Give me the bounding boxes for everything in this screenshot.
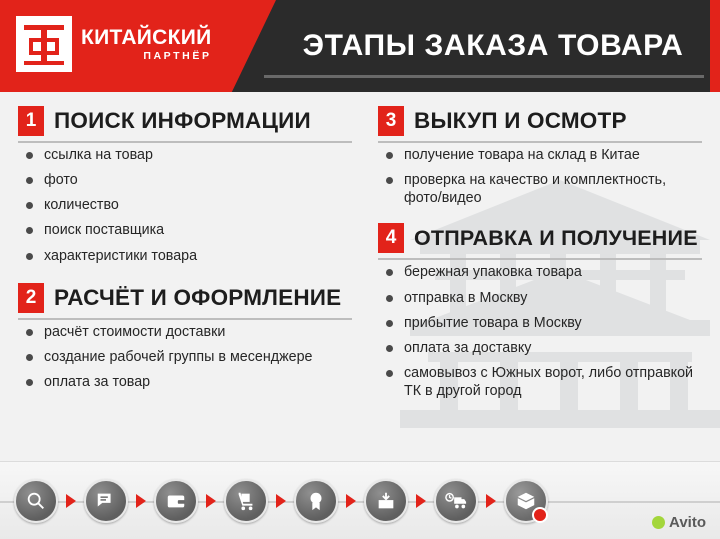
arrow-icon [136, 494, 146, 508]
logo-title: КИТАЙСКИЙ [81, 27, 212, 48]
list-item: прибытие товара в Москву [384, 314, 702, 332]
poster: КИТАЙСКИЙ ПАРТНЁР ЭТАПЫ ЗАКАЗА ТОВАРА 1 … [0, 0, 720, 539]
header-underline [264, 75, 704, 78]
block-2-list: расчёт стоимости доставки создание рабоч… [24, 323, 352, 391]
block-1-title: ПОИСК ИНФОРМАЦИИ [54, 108, 311, 134]
avito-label: Avito [669, 514, 706, 531]
brand-logo: КИТАЙСКИЙ ПАРТНЁР [16, 16, 212, 72]
hand-truck-icon [224, 479, 268, 523]
block-4-title: ОТПРАВКА И ПОЛУЧЕНИЕ [414, 226, 698, 251]
block-2-head: 2 РАСЧЁТ И ОФОРМЛЕНИЕ [18, 283, 352, 313]
block-3-number: 3 [378, 106, 404, 136]
logo-mark-icon [16, 16, 72, 72]
verified-badge-icon [532, 507, 548, 523]
list-item: создание рабочей группы в месенджере [24, 348, 352, 366]
block-4-list: бережная упаковка товара отправка в Моск… [384, 263, 702, 400]
block-4-head: 4 ОТПРАВКА И ПОЛУЧЕНИЕ [378, 223, 702, 253]
block-1-number: 1 [18, 106, 44, 136]
block-3-title: ВЫКУП И ОСМОТР [414, 108, 627, 134]
list-item: оплата за товар [24, 373, 352, 391]
header-accent-bar [710, 0, 720, 92]
list-item: проверка на качество и комплектность, фо… [384, 171, 702, 207]
column-right: 3 ВЫКУП И ОСМОТР получение товара на скл… [360, 106, 710, 448]
avito-dot-icon [652, 516, 665, 529]
block-4-rule [378, 258, 702, 260]
block-1-list: ссылка на товар фото количество поиск по… [24, 146, 352, 265]
process-footer: Avito [0, 461, 720, 539]
block-3-list: получение товара на склад в Китае провер… [384, 146, 702, 207]
block-3-head: 3 ВЫКУП И ОСМОТР [378, 106, 702, 136]
page-title: ЭТАПЫ ЗАКАЗА ТОВАРА [258, 0, 720, 92]
arrow-icon [486, 494, 496, 508]
chat-icon [84, 479, 128, 523]
block-1: 1 ПОИСК ИНФОРМАЦИИ ссылка на товар фото … [18, 106, 352, 265]
list-item: фото [24, 171, 352, 189]
poster-header: КИТАЙСКИЙ ПАРТНЁР ЭТАПЫ ЗАКАЗА ТОВАРА [0, 0, 720, 92]
arrow-icon [206, 494, 216, 508]
block-4-number: 4 [378, 223, 404, 253]
list-item: характеристики товара [24, 247, 352, 265]
arrow-icon [276, 494, 286, 508]
arrow-icon [346, 494, 356, 508]
block-1-head: 1 ПОИСК ИНФОРМАЦИИ [18, 106, 352, 136]
footer-steps [14, 479, 548, 523]
list-item: отправка в Москву [384, 289, 702, 307]
box-arrow-icon [364, 479, 408, 523]
verified-parcel-icon [504, 479, 548, 523]
content-columns: 1 ПОИСК ИНФОРМАЦИИ ссылка на товар фото … [0, 92, 720, 448]
quality-seal-icon [294, 479, 338, 523]
block-2-rule [18, 318, 352, 320]
magnifier-icon [14, 479, 58, 523]
logo-text: КИТАЙСКИЙ ПАРТНЁР [81, 27, 212, 62]
list-item: самовывоз с Южных ворот, либо отправкой … [384, 364, 702, 400]
list-item: оплата за доставку [384, 339, 702, 357]
column-left: 1 ПОИСК ИНФОРМАЦИИ ссылка на товар фото … [10, 106, 360, 448]
block-2: 2 РАСЧЁТ И ОФОРМЛЕНИЕ расчёт стоимости д… [18, 283, 352, 391]
list-item: получение товара на склад в Китае [384, 146, 702, 164]
block-2-title: РАСЧЁТ И ОФОРМЛЕНИЕ [54, 285, 341, 311]
block-2-number: 2 [18, 283, 44, 313]
list-item: количество [24, 196, 352, 214]
list-item: бережная упаковка товара [384, 263, 702, 281]
block-1-rule [18, 141, 352, 143]
list-item: поиск поставщика [24, 221, 352, 239]
logo-subtitle: ПАРТНЁР [81, 51, 212, 62]
list-item: расчёт стоимости доставки [24, 323, 352, 341]
block-4: 4 ОТПРАВКА И ПОЛУЧЕНИЕ бережная упаковка… [378, 223, 702, 400]
avito-watermark: Avito [652, 514, 706, 531]
block-3: 3 ВЫКУП И ОСМОТР получение товара на скл… [378, 106, 702, 207]
block-3-rule [378, 141, 702, 143]
list-item: ссылка на товар [24, 146, 352, 164]
delivery-truck-icon [434, 479, 478, 523]
arrow-icon [416, 494, 426, 508]
wallet-icon [154, 479, 198, 523]
arrow-icon [66, 494, 76, 508]
